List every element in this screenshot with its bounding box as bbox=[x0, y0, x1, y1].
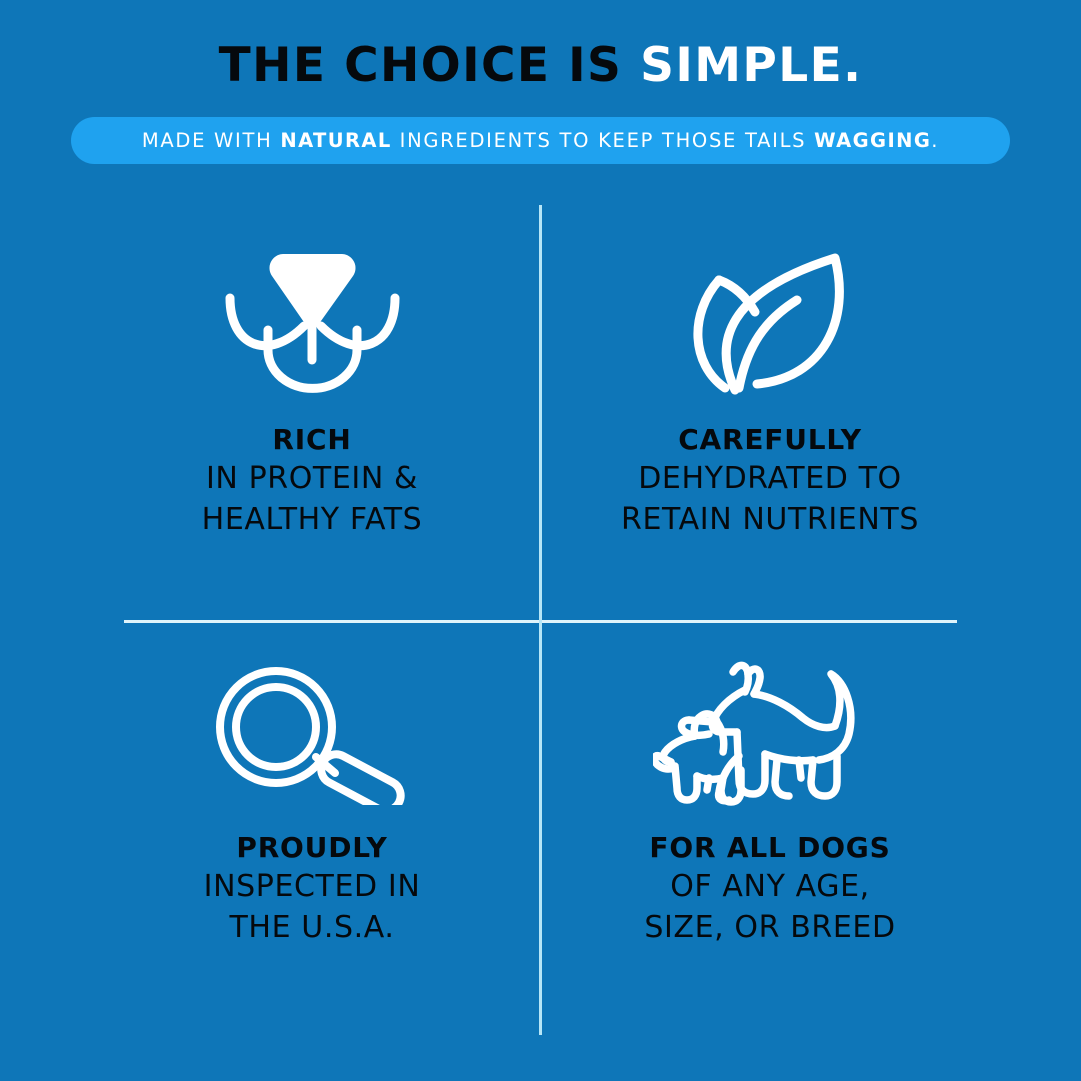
feature-line-1: FOR ALL DOGS bbox=[520, 830, 1020, 867]
subtitle-bold-natural: NATURAL bbox=[280, 129, 391, 152]
headline-dark-text: THE CHOICE IS bbox=[219, 38, 623, 93]
infographic-poster: THE CHOICE IS SIMPLE. MADE WITH NATURAL … bbox=[0, 0, 1081, 1081]
feature-line-2: DEHYDRATED TO bbox=[520, 459, 1020, 500]
feature-line-3: RETAIN NUTRIENTS bbox=[520, 500, 1020, 541]
feature-rich-protein: RICH IN PROTEIN & HEALTHY FATS bbox=[62, 222, 562, 541]
subtitle-part-1: MADE WITH bbox=[142, 129, 281, 152]
page-title: THE CHOICE IS SIMPLE. bbox=[0, 42, 1081, 89]
feature-carefully-dehydrated: CAREFULLY DEHYDRATED TO RETAIN NUTRIENTS bbox=[520, 222, 1020, 541]
feature-line-3: SIZE, OR BREED bbox=[520, 908, 1020, 949]
feature-line-3: THE U.S.A. bbox=[62, 908, 562, 949]
headline-light-text: SIMPLE. bbox=[640, 38, 862, 93]
two-dogs-icon bbox=[520, 640, 1020, 830]
subtitle-banner: MADE WITH NATURAL INGREDIENTS TO KEEP TH… bbox=[71, 117, 1010, 164]
feature-caption: PROUDLY INSPECTED IN THE U.S.A. bbox=[62, 830, 562, 949]
feature-caption: RICH IN PROTEIN & HEALTHY FATS bbox=[62, 422, 562, 541]
feature-line-2: OF ANY AGE, bbox=[520, 867, 1020, 908]
subtitle-text: MADE WITH NATURAL INGREDIENTS TO KEEP TH… bbox=[142, 129, 939, 152]
feature-caption: CAREFULLY DEHYDRATED TO RETAIN NUTRIENTS bbox=[520, 422, 1020, 541]
feature-caption: FOR ALL DOGS OF ANY AGE, SIZE, OR BREED bbox=[520, 830, 1020, 949]
feature-line-2: IN PROTEIN & bbox=[62, 459, 562, 500]
feature-line-1: CAREFULLY bbox=[520, 422, 1020, 459]
dog-snout-icon bbox=[62, 222, 562, 422]
subtitle-bold-wagging: WAGGING bbox=[814, 129, 931, 152]
feature-proudly-inspected: PROUDLY INSPECTED IN THE U.S.A. bbox=[62, 640, 562, 949]
feature-line-1: RICH bbox=[62, 422, 562, 459]
subtitle-part-2: INGREDIENTS TO KEEP THOSE TAILS bbox=[392, 129, 814, 152]
leaf-icon bbox=[520, 222, 1020, 422]
feature-line-2: INSPECTED IN bbox=[62, 867, 562, 908]
feature-for-all-dogs: FOR ALL DOGS OF ANY AGE, SIZE, OR BREED bbox=[520, 640, 1020, 949]
magnifying-glass-icon bbox=[62, 640, 562, 830]
subtitle-part-3: . bbox=[931, 129, 939, 152]
feature-line-1: PROUDLY bbox=[62, 830, 562, 867]
feature-line-3: HEALTHY FATS bbox=[62, 500, 562, 541]
